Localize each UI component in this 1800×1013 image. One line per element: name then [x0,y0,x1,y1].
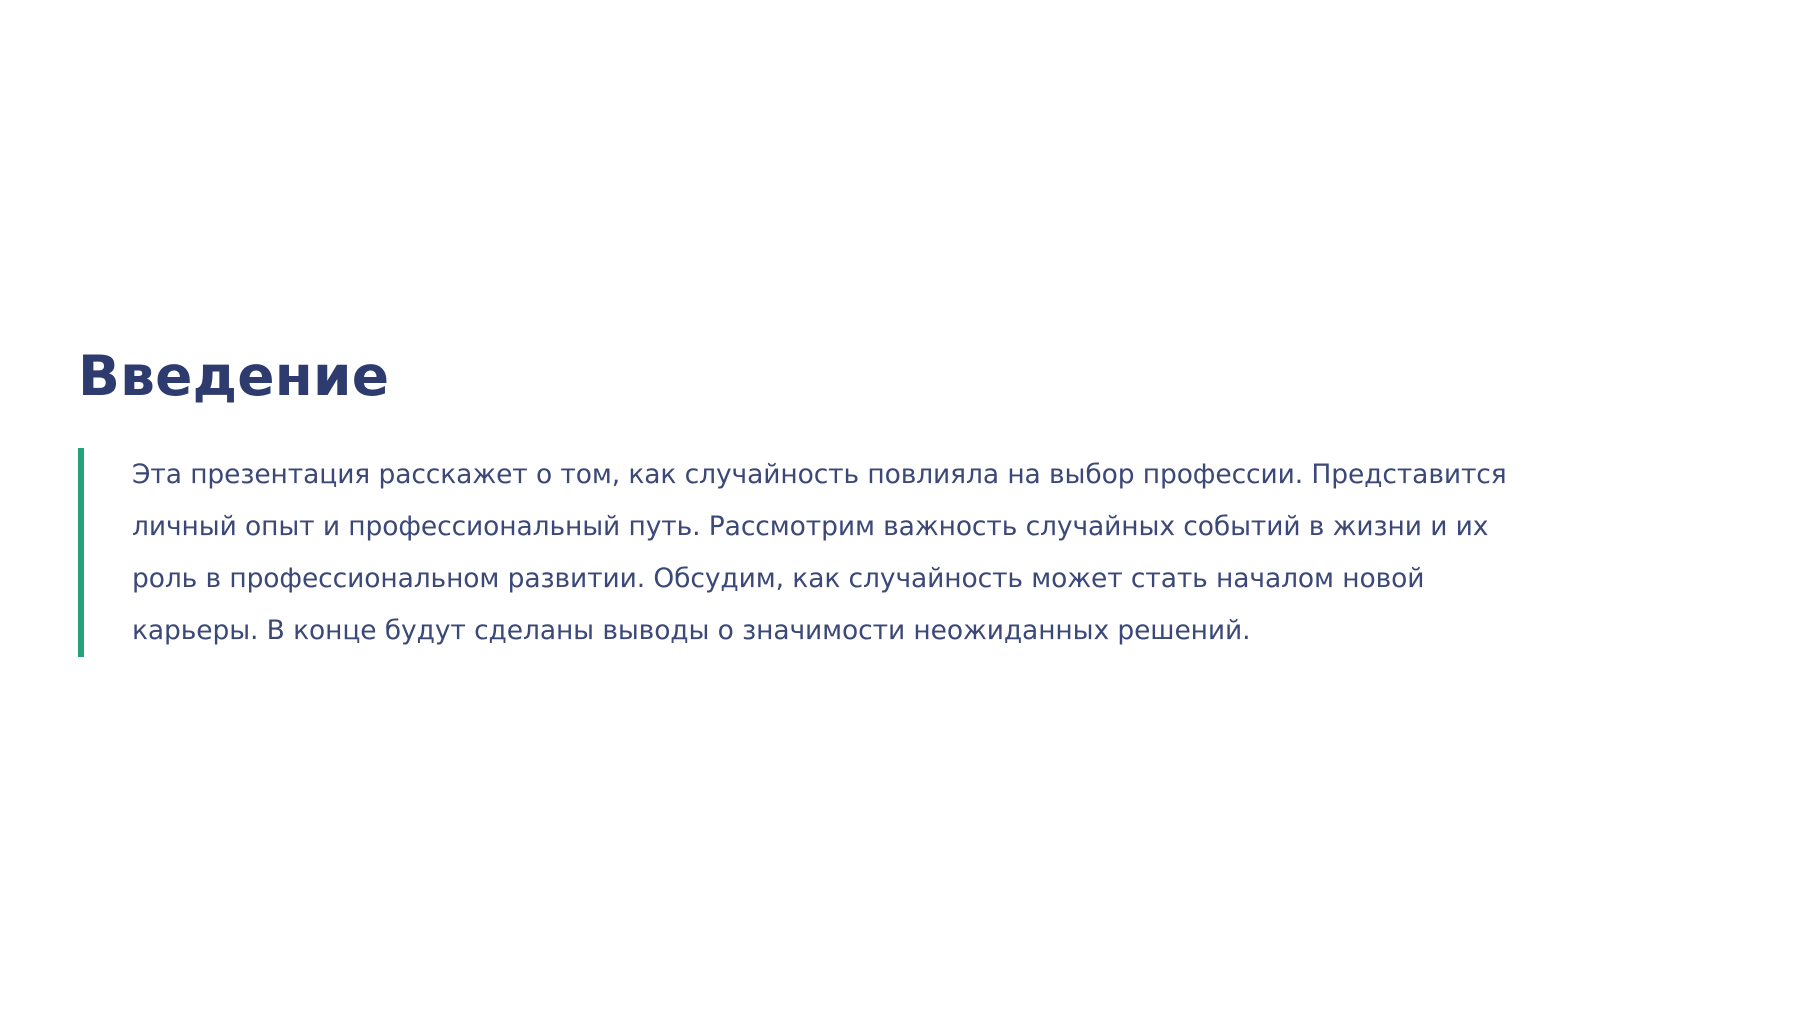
page-title: Введение [78,348,1698,406]
presentation-slide: Введение Эта презентация расскажет о том… [0,0,1800,1013]
body-block: Эта презентация расскажет о том, как слу… [78,448,1698,657]
slide-content: Введение Эта презентация расскажет о том… [78,348,1698,657]
body-paragraph: Эта презентация расскажет о том, как слу… [132,449,1522,657]
body-text-wrap: Эта презентация расскажет о том, как слу… [84,448,1698,657]
